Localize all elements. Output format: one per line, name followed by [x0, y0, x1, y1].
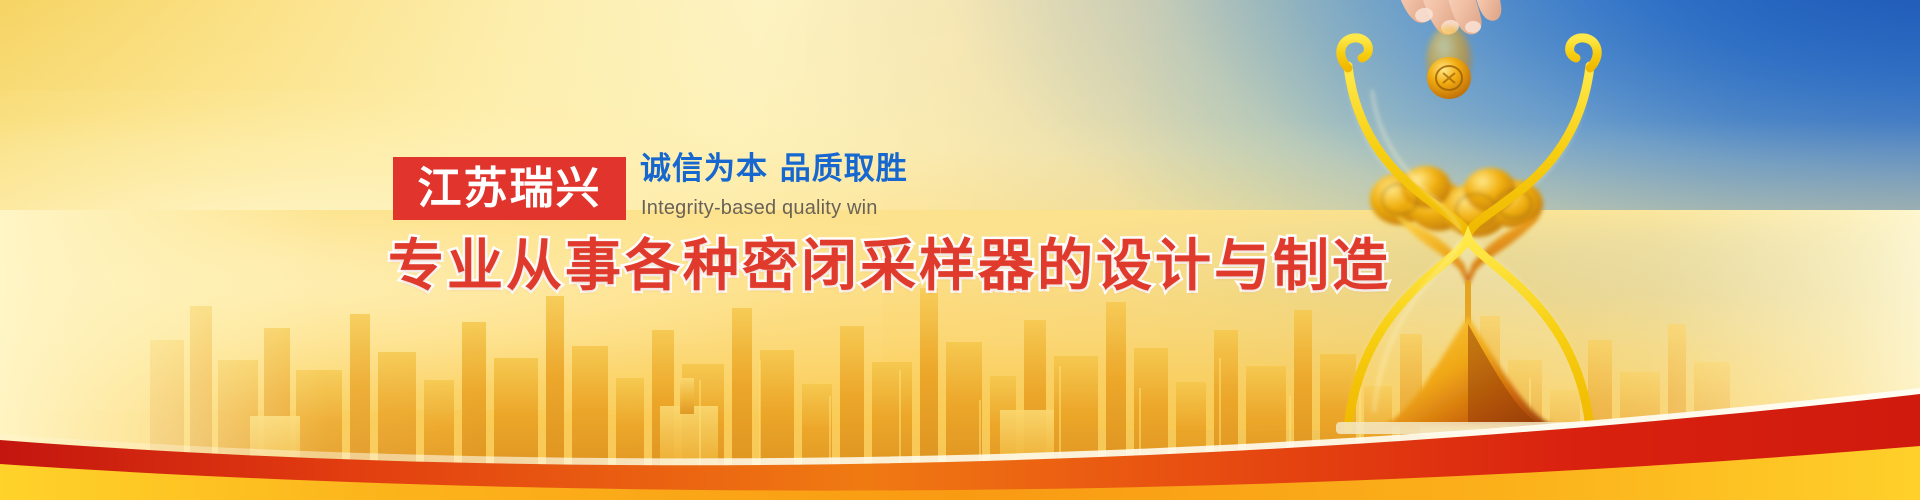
headline-text: 专业从事各种密闭采样器的设计与制造: [388, 236, 1391, 299]
company-logo-badge: 江苏瑞兴: [393, 157, 626, 220]
company-name-label: 江苏瑞兴: [418, 167, 602, 211]
slogan-chinese: 诚信为本 品质取胜: [640, 152, 908, 186]
slogan-english: Integrity-based quality win: [641, 196, 878, 220]
banner-copy: 江苏瑞兴 诚信为本 品质取胜 Integrity-based quality w…: [0, 0, 1920, 500]
promo-banner: 江苏瑞兴 诚信为本 品质取胜 Integrity-based quality w…: [0, 0, 1920, 500]
